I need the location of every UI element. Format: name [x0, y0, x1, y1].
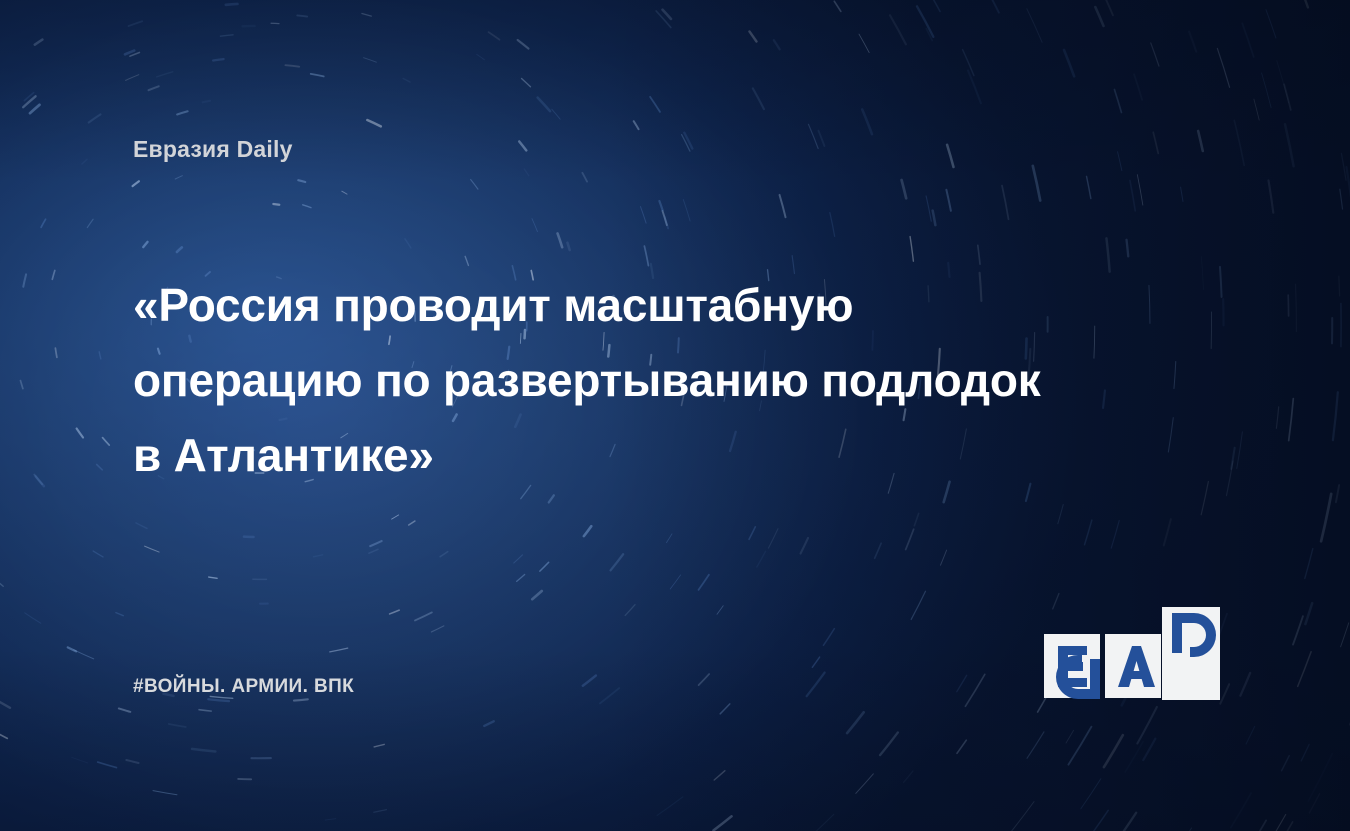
headline-line-1: «Россия проводит масштабную: [133, 268, 1223, 343]
rubric-tag: #ВОЙНЫ. АРМИИ. ВПК: [133, 676, 354, 698]
headline-line-2: операцию по развертыванию подлодок: [133, 343, 1223, 418]
headline-line-3: в Атлантике»: [133, 418, 1223, 493]
page-title: «Россия проводит масштабную операцию по …: [133, 268, 1223, 493]
news-card: Евразия Daily «Россия проводит масштабну…: [0, 0, 1350, 831]
brand-name: Евразия Daily: [133, 136, 293, 163]
eadaily-logo: [1044, 607, 1228, 702]
